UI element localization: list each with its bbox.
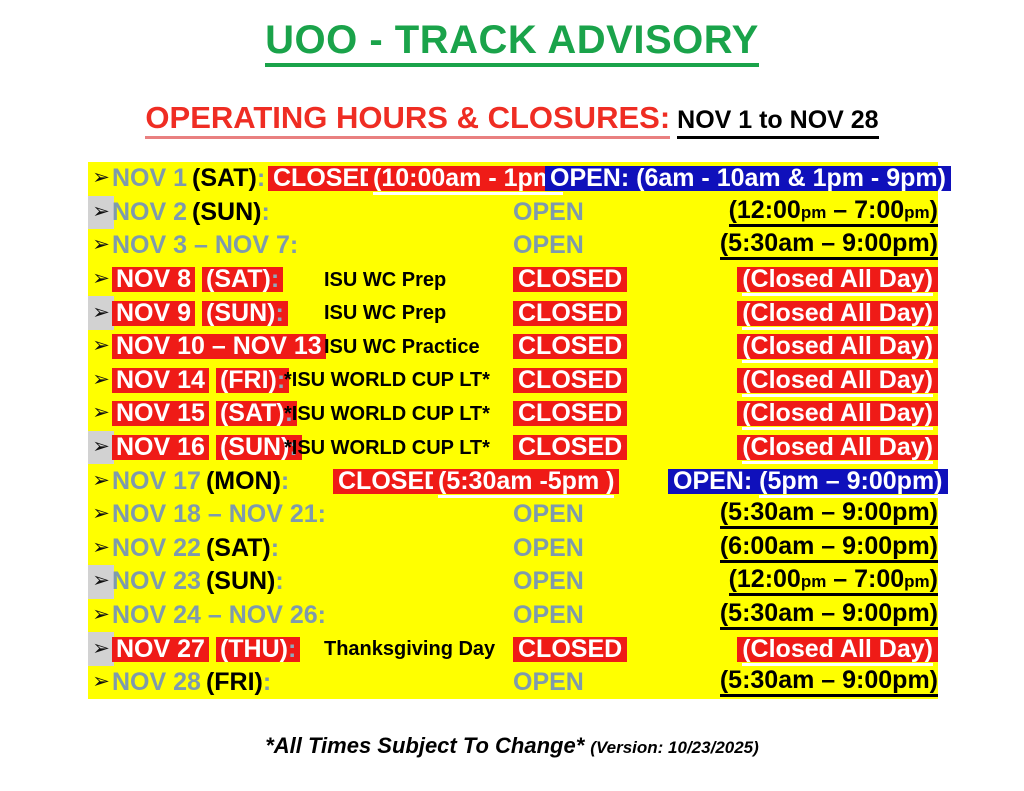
schedule-row: ➢NOV 2(SUN):OPEN(12:00pm – 7:00pm) — [88, 196, 938, 230]
row-status: CLOSED — [513, 296, 627, 330]
row-hours-text: (Closed All Day) — [737, 368, 938, 393]
schedule-row: ➢NOV 28(FRI):OPEN(5:30am – 9:00pm) — [88, 666, 938, 700]
row-hours-text: (5:30am -5pm ) — [433, 469, 619, 494]
row-status: CLOSED — [513, 263, 627, 297]
row-status-text: OPEN — [513, 603, 584, 628]
row-status: OPEN — [513, 666, 584, 700]
footer-disclaimer: *All Times Subject To Change* — [265, 733, 584, 758]
row-date-text: NOV 16 — [112, 435, 209, 460]
row-date: NOV 14(FRI): — [112, 364, 289, 398]
row-hours-text: (Closed All Day) — [737, 301, 938, 326]
row-date-text: NOV 10 – NOV 13 — [112, 334, 326, 359]
footer: *All Times Subject To Change*(Version: 1… — [0, 733, 1024, 759]
row-status: OPEN — [513, 532, 584, 566]
row-hours-text: (5:30am – 9:00pm) — [720, 601, 938, 630]
footer-version: (Version: 10/23/2025) — [590, 738, 759, 757]
row-date-text: NOV 2 — [112, 200, 187, 225]
row-hours-text: (10:00am - 1pm) — [368, 166, 568, 191]
schedule-row: ➢NOV 9(SUN):ISU WC PrepCLOSED(Closed All… — [88, 296, 938, 330]
row-status-text: CLOSED — [513, 301, 627, 326]
subtitle-heading: OPERATING HOURS & CLOSURES: — [145, 100, 670, 139]
row-hours-text: (Closed All Day) — [737, 267, 938, 292]
bullet-arrow-icon: ➢ — [88, 229, 114, 263]
bullet-arrow-icon: ➢ — [88, 364, 114, 398]
row-status: CLOSED — [513, 364, 627, 398]
row-status-text: CLOSED — [513, 368, 627, 393]
row-status: CLOSED — [513, 431, 627, 465]
schedule-row: ➢NOV 27(THU):Thanksgiving DayCLOSED(Clos… — [88, 632, 938, 666]
row-note: ISU WC Practice — [324, 330, 480, 364]
bullet-arrow-glyph: ➢ — [92, 369, 110, 390]
row-date: NOV 27(THU): — [112, 632, 300, 666]
row-status-text: CLOSED — [333, 469, 447, 494]
bullet-arrow-glyph: ➢ — [92, 671, 110, 692]
bullet-arrow-glyph: ➢ — [92, 436, 110, 457]
row-hours: (Closed All Day) — [640, 330, 938, 364]
bullet-arrow-icon: ➢ — [88, 330, 114, 364]
schedule-row: ➢NOV 16(SUN):*ISU WORLD CUP LT*CLOSED(Cl… — [88, 431, 938, 465]
row-date-text: NOV 17 — [112, 469, 201, 494]
row-status-text: CLOSED — [513, 637, 627, 662]
schedule-row: ➢NOV 15(SAT):*ISU WORLD CUP LT*CLOSED(Cl… — [88, 397, 938, 431]
row-date: NOV 23(SUN): — [112, 565, 284, 599]
schedule-row: ➢NOV 10 – NOV 13ISU WC PracticeCLOSED(Cl… — [88, 330, 938, 364]
bullet-arrow-glyph: ➢ — [92, 234, 110, 255]
row-status: OPEN — [513, 565, 584, 599]
row-date-text: NOV 27 — [112, 637, 209, 662]
row-hours-text: (5:30am – 9:00pm) — [720, 500, 938, 529]
row-status: CLOSED — [513, 330, 627, 364]
row-date-text: NOV 9 — [112, 301, 195, 326]
row-extra-hours-text: OPEN: (5pm – 9:00pm) — [668, 469, 948, 494]
bullet-arrow-icon: ➢ — [88, 632, 114, 666]
row-date: NOV 16(SUN): — [112, 431, 302, 465]
bullet-arrow-icon: ➢ — [88, 431, 114, 465]
row-status: OPEN — [513, 229, 584, 263]
row-hours-text: (6:00am – 9:00pm) — [720, 534, 938, 563]
row-hours-text: (Closed All Day) — [737, 637, 938, 662]
schedule-panel: ➢NOV 1(SAT):CLOSED(10:00am - 1pm)OPEN: (… — [88, 162, 938, 699]
bullet-arrow-glyph: ➢ — [92, 570, 110, 591]
row-status: OPEN — [513, 599, 584, 633]
row-day-of-week: (SUN): — [192, 200, 270, 225]
row-hours-text: (Closed All Day) — [737, 435, 938, 460]
schedule-row: ➢NOV 14(FRI):*ISU WORLD CUP LT*CLOSED(Cl… — [88, 364, 938, 398]
row-hours: (5:30am – 9:00pm) — [640, 498, 938, 532]
row-date-text: NOV 3 – NOV 7: — [112, 233, 298, 258]
schedule-row: ➢NOV 3 – NOV 7:OPEN(5:30am – 9:00pm) — [88, 229, 938, 263]
row-date-text: NOV 15 — [112, 401, 209, 426]
row-status-text: CLOSED — [513, 435, 627, 460]
subtitle-date-range: NOV 1 to NOV 28 — [677, 106, 878, 139]
row-status-text: CLOSED — [513, 267, 627, 292]
row-hours: (12:00pm – 7:00pm) — [640, 196, 938, 230]
row-hours-text: (Closed All Day) — [737, 334, 938, 359]
schedule-row: ➢NOV 23(SUN):OPEN(12:00pm – 7:00pm) — [88, 565, 938, 599]
row-status-text: OPEN — [513, 536, 584, 561]
row-hours-text: (Closed All Day) — [737, 401, 938, 426]
row-hours: (Closed All Day) — [640, 263, 938, 297]
row-note: ISU WC Prep — [324, 263, 446, 297]
row-day-of-week: (THU): — [216, 637, 300, 662]
bullet-arrow-icon: ➢ — [88, 296, 114, 330]
row-status: CLOSED — [513, 397, 627, 431]
row-date-text: NOV 22 — [112, 536, 201, 561]
row-hours: (5:30am – 9:00pm) — [640, 599, 938, 633]
schedule-row: ➢NOV 22(SAT):OPEN(6:00am – 9:00pm) — [88, 532, 938, 566]
row-hours: (Closed All Day) — [640, 431, 938, 465]
row-day-of-week: (SAT): — [206, 536, 279, 561]
bullet-arrow-glyph: ➢ — [92, 167, 110, 188]
row-extra-hours-text: OPEN: (6am - 10am & 1pm - 9pm) — [545, 166, 951, 191]
row-status-text: CLOSED — [268, 166, 382, 191]
row-date-text: NOV 14 — [112, 368, 209, 393]
row-day-of-week: (SUN): — [202, 301, 288, 326]
row-day-of-week: (MON): — [206, 469, 289, 494]
row-extra-hours: OPEN: (5pm – 9:00pm) — [668, 464, 948, 498]
bullet-arrow-glyph: ➢ — [92, 470, 110, 491]
row-day-of-week: (SAT): — [192, 166, 265, 191]
row-hours-text: (5:30am – 9:00pm) — [720, 668, 938, 697]
row-status: OPEN — [513, 498, 584, 532]
row-hours: (6:00am – 9:00pm) — [640, 532, 938, 566]
bullet-arrow-icon: ➢ — [88, 532, 114, 566]
row-status-text: CLOSED — [513, 401, 627, 426]
bullet-arrow-icon: ➢ — [88, 464, 114, 498]
bullet-arrow-glyph: ➢ — [92, 402, 110, 423]
bullet-arrow-glyph: ➢ — [92, 638, 110, 659]
row-date: NOV 18 – NOV 21: — [112, 498, 326, 532]
row-note: Thanksgiving Day — [324, 632, 495, 666]
subtitle: OPERATING HOURS & CLOSURES:NOV 1 to NOV … — [0, 100, 1024, 136]
row-hours: (5:30am – 9:00pm) — [640, 666, 938, 700]
bullet-arrow-icon: ➢ — [88, 498, 114, 532]
bullet-arrow-glyph: ➢ — [92, 201, 110, 222]
schedule-row: ➢NOV 17(MON):CLOSED(5:30am -5pm )OPEN: (… — [88, 464, 938, 498]
row-hours: (5:30am – 9:00pm) — [640, 229, 938, 263]
row-note: *ISU WORLD CUP LT* — [284, 364, 490, 398]
row-hours: (Closed All Day) — [640, 397, 938, 431]
row-date-text: NOV 23 — [112, 569, 201, 594]
row-status-text: OPEN — [513, 670, 584, 695]
row-status-text: OPEN — [513, 233, 584, 258]
row-hours: (Closed All Day) — [640, 632, 938, 666]
row-date: NOV 3 – NOV 7: — [112, 229, 298, 263]
row-status: OPEN — [513, 196, 584, 230]
row-date: NOV 24 – NOV 26: — [112, 599, 326, 633]
bullet-arrow-icon: ➢ — [88, 196, 114, 230]
row-hours: (12:00pm – 7:00pm) — [640, 565, 938, 599]
bullet-arrow-glyph: ➢ — [92, 537, 110, 558]
row-status-text: CLOSED — [513, 334, 627, 359]
bullet-arrow-icon: ➢ — [88, 162, 114, 196]
row-date-text: NOV 1 — [112, 166, 187, 191]
row-status-text: OPEN — [513, 502, 584, 527]
row-hours-text: (5:30am – 9:00pm) — [720, 231, 938, 260]
row-note: *ISU WORLD CUP LT* — [284, 397, 490, 431]
row-note: *ISU WORLD CUP LT* — [284, 431, 490, 465]
schedule-row: ➢NOV 24 – NOV 26:OPEN(5:30am – 9:00pm) — [88, 599, 938, 633]
page-title-text: UOO - TRACK ADVISORY — [265, 18, 759, 67]
row-extra-hours: OPEN: (6am - 10am & 1pm - 9pm) — [545, 162, 951, 196]
row-date: NOV 17(MON): — [112, 464, 289, 498]
row-status-text: OPEN — [513, 569, 584, 594]
row-hours: (5:30am -5pm ) — [433, 464, 619, 498]
bullet-arrow-icon: ➢ — [88, 599, 114, 633]
row-hours: (Closed All Day) — [640, 364, 938, 398]
row-date: NOV 8(SAT): — [112, 263, 283, 297]
row-date: NOV 10 – NOV 13 — [112, 330, 326, 364]
row-date-text: NOV 28 — [112, 670, 201, 695]
bullet-arrow-glyph: ➢ — [92, 268, 110, 289]
row-status: CLOSED — [513, 632, 627, 666]
bullet-arrow-icon: ➢ — [88, 397, 114, 431]
row-hours-text: (12:00pm – 7:00pm) — [729, 567, 938, 596]
row-date-text: NOV 24 – NOV 26: — [112, 603, 326, 628]
bullet-arrow-icon: ➢ — [88, 263, 114, 297]
page-title: UOO - TRACK ADVISORY — [0, 18, 1024, 63]
bullet-arrow-icon: ➢ — [88, 565, 114, 599]
row-note: ISU WC Prep — [324, 296, 446, 330]
schedule-row: ➢NOV 1(SAT):CLOSED(10:00am - 1pm)OPEN: (… — [88, 162, 938, 196]
row-date-text: NOV 18 – NOV 21: — [112, 502, 326, 527]
row-date: NOV 9(SUN): — [112, 296, 288, 330]
row-hours: (Closed All Day) — [640, 296, 938, 330]
row-day-of-week: (FRI): — [206, 670, 271, 695]
row-status: CLOSED — [268, 162, 382, 196]
row-day-of-week: (SAT): — [202, 267, 283, 292]
row-date: NOV 15(SAT): — [112, 397, 297, 431]
bullet-arrow-glyph: ➢ — [92, 604, 110, 625]
row-status: CLOSED — [333, 464, 447, 498]
schedule-row: ➢NOV 8(SAT):ISU WC PrepCLOSED(Closed All… — [88, 263, 938, 297]
row-day-of-week: (SUN): — [206, 569, 284, 594]
bullet-arrow-glyph: ➢ — [92, 302, 110, 323]
schedule-row: ➢NOV 18 – NOV 21:OPEN(5:30am – 9:00pm) — [88, 498, 938, 532]
row-date: NOV 28(FRI): — [112, 666, 271, 700]
bullet-arrow-glyph: ➢ — [92, 335, 110, 356]
bullet-arrow-glyph: ➢ — [92, 503, 110, 524]
row-day-of-week: (FRI): — [216, 368, 289, 393]
row-date: NOV 1(SAT): — [112, 162, 265, 196]
row-date: NOV 2(SUN): — [112, 196, 270, 230]
bullet-arrow-icon: ➢ — [88, 666, 114, 700]
row-hours-text: (12:00pm – 7:00pm) — [729, 198, 938, 227]
row-date-text: NOV 8 — [112, 267, 195, 292]
row-status-text: OPEN — [513, 200, 584, 225]
row-date: NOV 22(SAT): — [112, 532, 279, 566]
row-hours: (10:00am - 1pm) — [368, 162, 568, 196]
